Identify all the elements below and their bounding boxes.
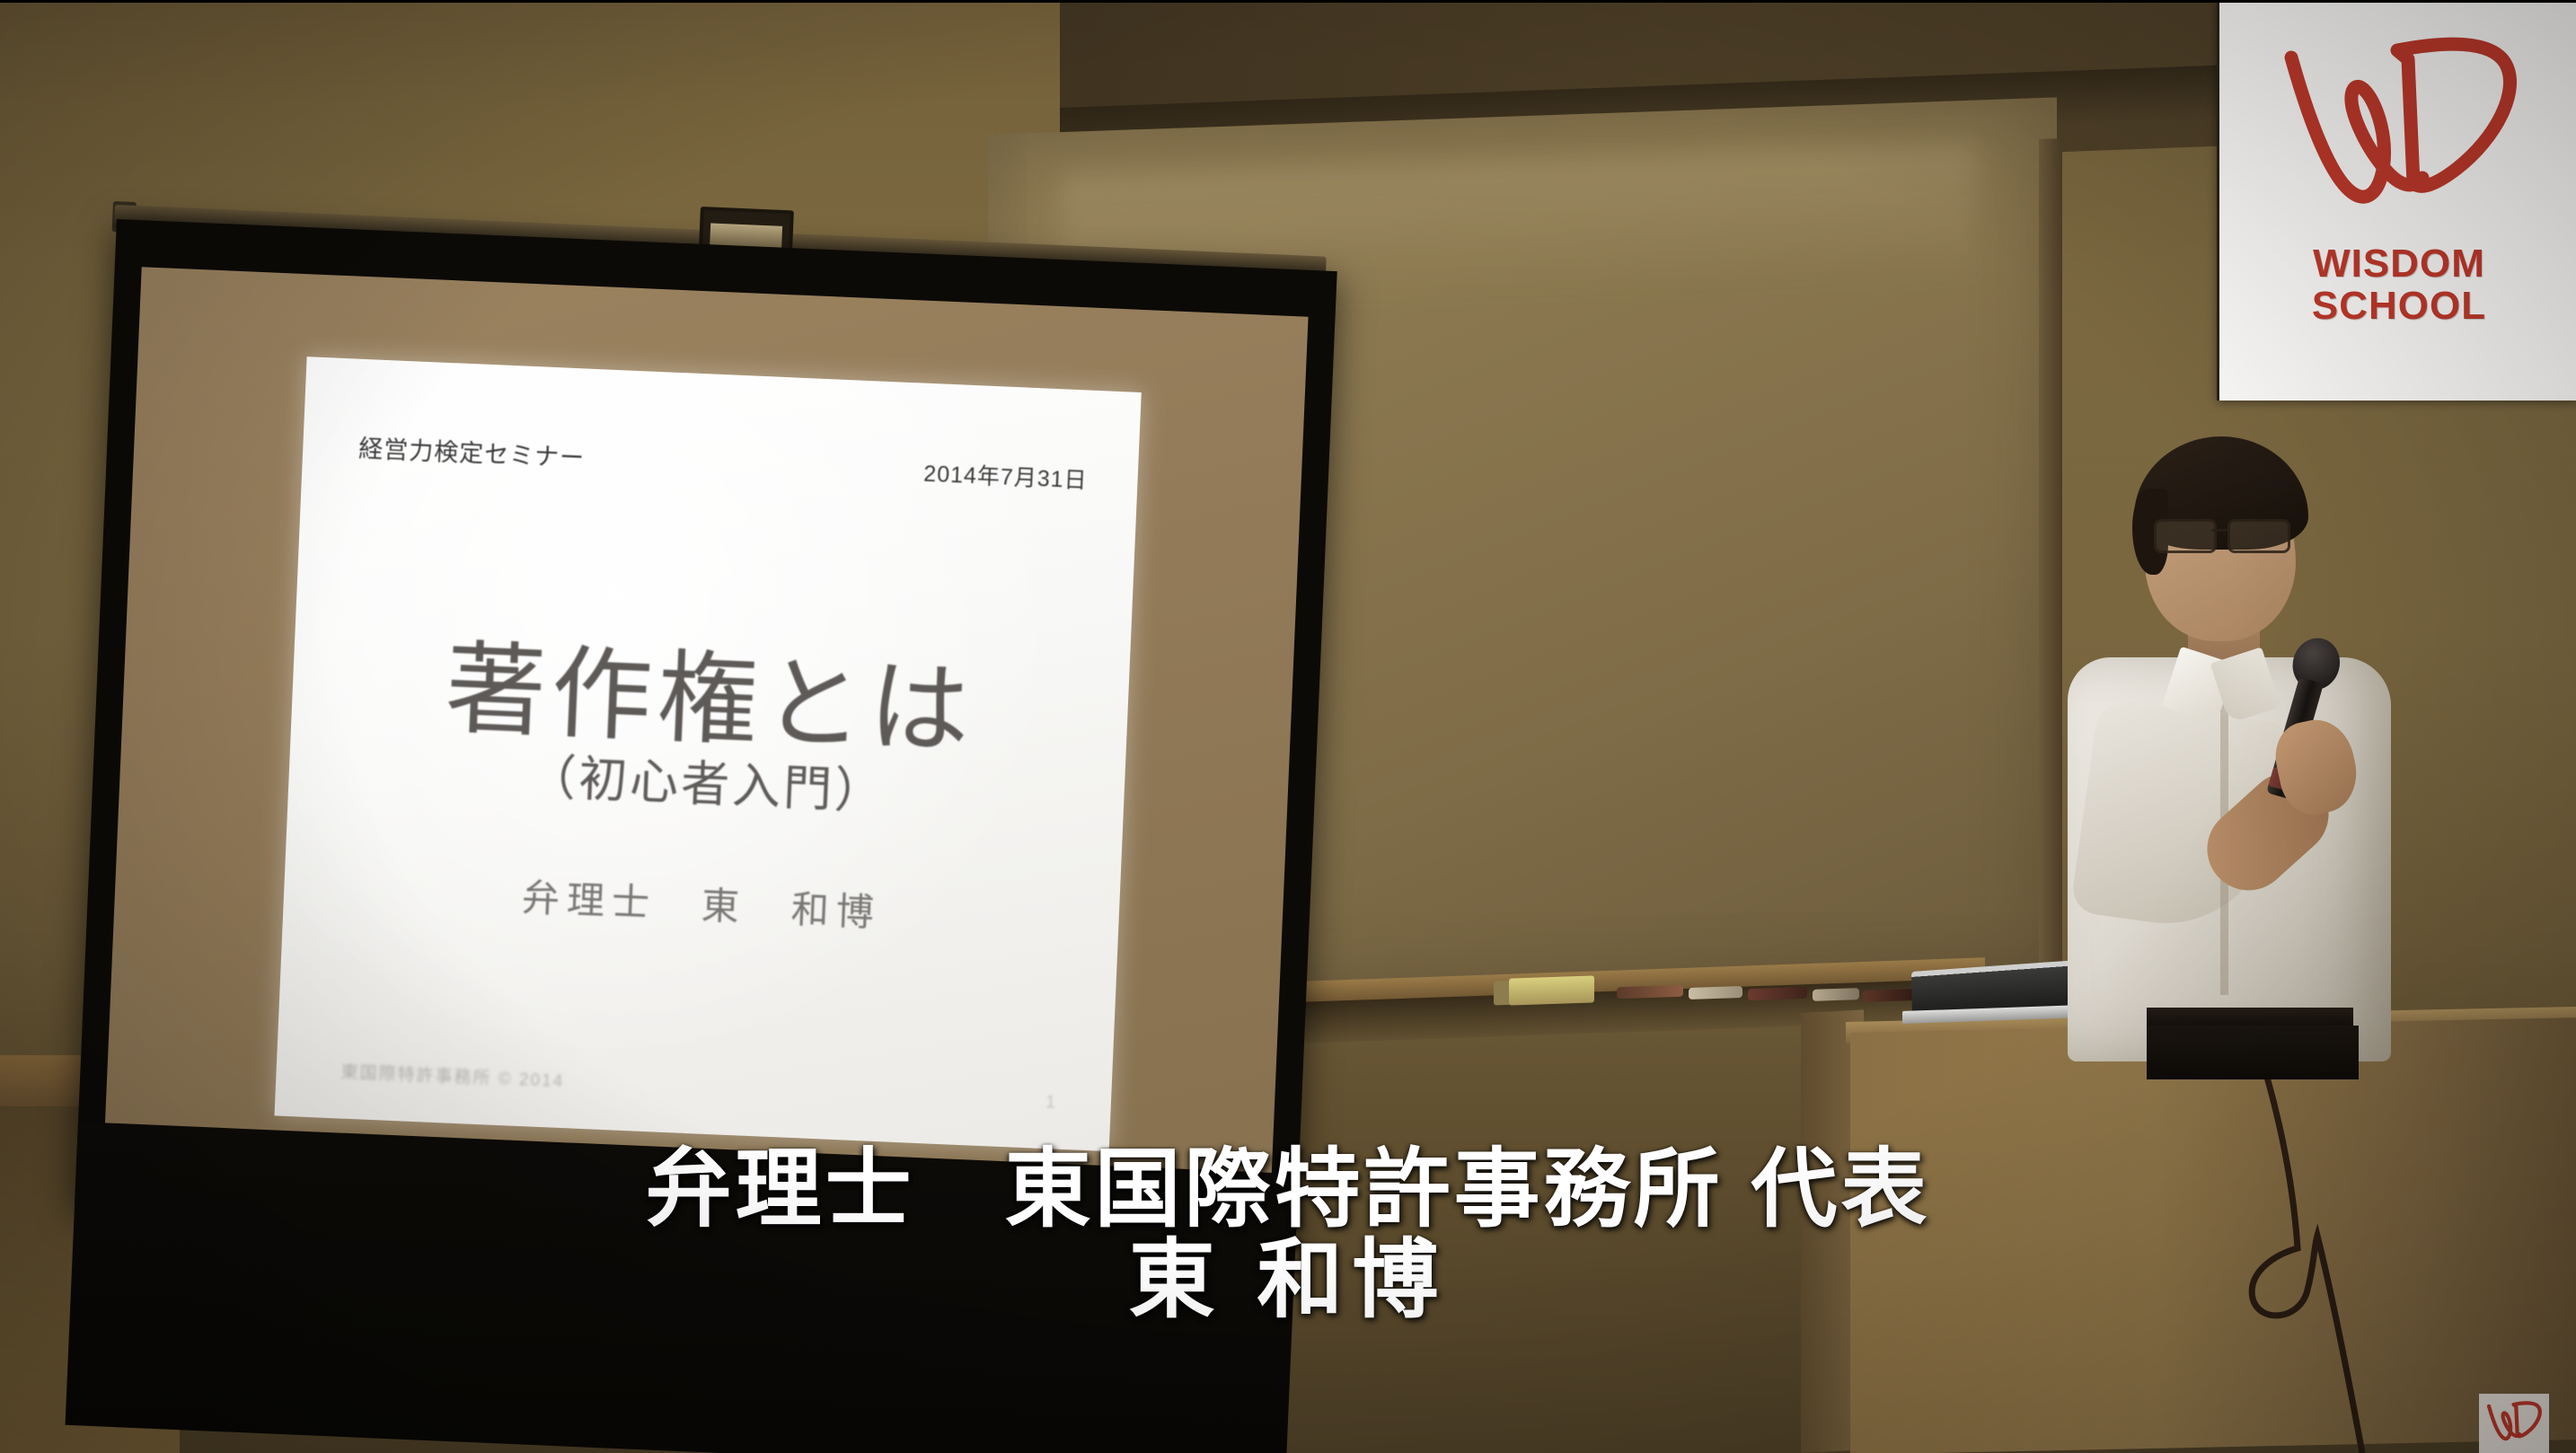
eyeglass-lens-left (2154, 519, 2217, 553)
slide-footer-copyright: 東国際特許事務所 © 2014 (340, 1059, 565, 1093)
frame-top-letterbox (0, 0, 2576, 3)
marker-pen-2 (1689, 986, 1742, 999)
video-frame: 経営力検定セミナー 2014年7月31日 著作権とは （初心者入門） 弁理士 東… (0, 0, 2576, 1453)
speaker-person (2012, 413, 2479, 1060)
slide-header-date: 2014年7月31日 (923, 456, 1089, 496)
wisdom-school-logo: WISDOM SCHOOL (2217, 0, 2576, 401)
whiteboard-eraser (1509, 975, 1594, 1005)
slide-header-left: 経営力検定セミナー (358, 429, 586, 474)
video-caption: 弁理士 東国際特許事務所 代表 東 和博 (0, 1145, 2576, 1326)
slide-page-number: 1 (1045, 1093, 1056, 1113)
eyeglass-lens-right (2228, 519, 2290, 553)
caption-line-1: 弁理士 東国際特許事務所 代表 (0, 1145, 2576, 1236)
marker-pen-5 (1863, 989, 1915, 1002)
projector-screen: 経営力検定セミナー 2014年7月31日 著作権とは （初心者入門） 弁理士 東… (75, 219, 1337, 1258)
marker-pen-1 (1617, 985, 1683, 999)
presentation-slide: 経営力検定セミナー 2014年7月31日 著作権とは （初心者入門） 弁理士 東… (274, 357, 1141, 1151)
logo-text-line-1: WISDOM (2313, 244, 2485, 285)
wisdom-w-icon-small (2483, 1397, 2545, 1449)
caption-line-2: 東 和博 (0, 1236, 2576, 1326)
slide-presenter-name: 弁理士 東 和博 (283, 858, 1120, 948)
eyeglasses-icon (2150, 519, 2299, 550)
marker-pen-4 (1813, 988, 1859, 1001)
speaker-trousers (2147, 1026, 2359, 1079)
slide-header: 経営力検定セミナー 2014年7月31日 (358, 429, 1089, 496)
wisdom-w-icon (2264, 20, 2534, 242)
marker-pen-3 (1748, 987, 1807, 1000)
screen-surface: 経営力検定セミナー 2014年7月31日 著作権とは （初心者入門） 弁理士 東… (105, 267, 1309, 1178)
logo-text-line-2: SCHOOL (2312, 286, 2486, 327)
eyeglass-bridge (2211, 529, 2229, 532)
corner-watermark (2479, 1394, 2549, 1453)
